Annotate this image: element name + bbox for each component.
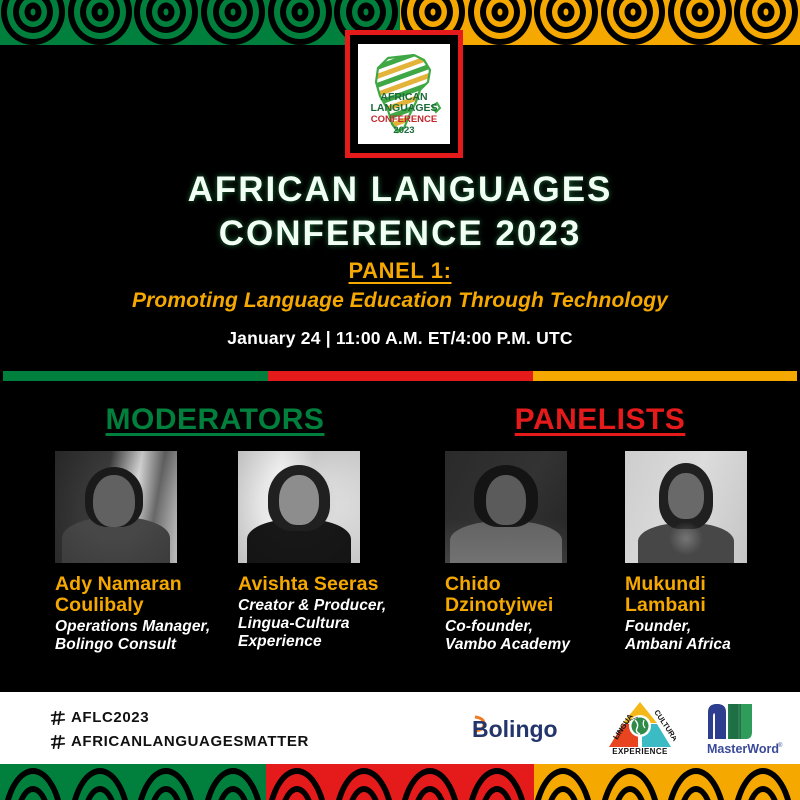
title-line-1: AFRICAN LANGUAGES: [0, 168, 800, 212]
concentric-arch-icon: [534, 764, 597, 800]
lingua-cultura-experience-logo: LINGUA CULTURA EXPERIENCE: [604, 699, 676, 757]
hashtag-africanlanguagesmatter-label: AFRICANLANGUAGESMATTER: [71, 730, 309, 754]
panelist-1-role-line-2: Vambo Academy: [445, 636, 605, 654]
conference-poster: AFRICAN LANGUAGES CONFERENCE 2023 AFRICA…: [0, 0, 800, 800]
logo-line-conference: CONFERENCE: [371, 114, 438, 125]
bottom-pattern-red-segment: [266, 764, 534, 800]
hashtag-aflc2023-label: AFLC2023: [71, 706, 149, 730]
moderator-1-name: Ady Namaran Coulibaly: [55, 574, 215, 616]
panelist-2-role-line-1: Founder,: [625, 618, 785, 636]
hashtag-group: AFLC2023 AFRICANLANGUAGESMATTER: [50, 706, 309, 754]
headshot-mukundi-lambani: [625, 451, 747, 563]
bottom-pattern-green-segment: [0, 764, 266, 800]
title-line-2: CONFERENCE 2023: [0, 212, 800, 256]
panelist-2-name: Mukundi Lambani: [625, 574, 785, 616]
logo-line-languages: LANGUAGES: [370, 102, 437, 114]
divider-red: [268, 371, 533, 381]
concentric-ring-icon: [0, 0, 67, 45]
conference-logo: AFRICAN LANGUAGES CONFERENCE 2023: [358, 44, 450, 144]
concentric-ring-icon: [733, 0, 800, 45]
masterword-label: MasterWord: [707, 742, 779, 756]
panel-label: PANEL 1:: [0, 258, 800, 284]
tricolor-divider: [3, 371, 797, 381]
concentric-ring-icon: [200, 0, 267, 45]
concentric-ring-icon: [266, 0, 333, 45]
conference-logo-badge: AFRICAN LANGUAGES CONFERENCE 2023: [345, 30, 463, 158]
bottom-pattern-band: [0, 764, 800, 800]
bolingo-label: Bolingo: [472, 716, 558, 742]
panelist-card-2: Mukundi Lambani Founder, Ambani Africa: [625, 451, 785, 654]
divider-gold: [533, 371, 797, 381]
logo-line-year: 2023: [393, 125, 414, 136]
headshot-ady-namaran-coulibaly: [55, 451, 177, 563]
poster-title: AFRICAN LANGUAGES CONFERENCE 2023: [0, 168, 800, 256]
concentric-arch-icon: [200, 764, 266, 800]
concentric-arch-icon: [0, 764, 67, 800]
panelist-card-1: Chido Dzinotyiwei Co-founder, Vambo Acad…: [445, 451, 605, 654]
moderator-card-1: Ady Namaran Coulibaly Operations Manager…: [55, 451, 215, 654]
concentric-arch-icon: [266, 764, 331, 800]
concentric-ring-icon: [600, 0, 667, 45]
concentric-arch-icon: [464, 764, 531, 800]
hashtag-icon: [50, 734, 66, 750]
concentric-ring-icon: [467, 0, 534, 45]
concentric-arch-icon: [597, 764, 664, 800]
concentric-ring-icon: [67, 0, 134, 45]
concentric-arch-icon: [730, 764, 797, 800]
bottom-pattern-gold-segment: [534, 764, 800, 800]
panelists-heading: PANELISTS: [500, 403, 700, 437]
top-pattern-green-segment: [0, 0, 400, 45]
bolingo-logo: Bolingo: [468, 708, 580, 748]
divider-green: [3, 371, 268, 381]
panelist-1-name: Chido Dzinotyiwei: [445, 574, 605, 616]
headshot-avishta-seeras: [238, 451, 360, 563]
concentric-ring-icon: [133, 0, 200, 45]
masterword-registered-mark: ®: [778, 742, 783, 749]
panel-datetime: January 24 | 11:00 A.M. ET/4:00 P.M. UTC: [0, 328, 800, 349]
concentric-ring-icon: [533, 0, 600, 45]
masterword-logo: MasterWord ®: [700, 699, 786, 757]
moderator-1-role-line-1: Operations Manager,: [55, 618, 215, 636]
concentric-arch-row: [0, 764, 266, 800]
concentric-arch-icon: [663, 764, 730, 800]
moderator-2-role-line-1: Creator & Producer,: [238, 597, 398, 615]
concentric-arch-icon: [133, 764, 200, 800]
headshot-chido-dzinotyiwei: [445, 451, 567, 563]
moderator-2-name: Avishta Seeras: [238, 574, 398, 595]
hashtag-aflc2023: AFLC2023: [50, 706, 309, 730]
footer-bar: AFLC2023 AFRICANLANGUAGESMATTER: [0, 692, 800, 764]
moderators-heading: MODERATORS: [85, 403, 345, 437]
concentric-arch-row: [534, 764, 800, 800]
hashtag-icon: [50, 710, 66, 726]
moderator-card-2: Avishta Seeras Creator & Producer, Lingu…: [238, 451, 398, 651]
concentric-ring-row: [0, 0, 400, 45]
concentric-arch-row: [266, 764, 534, 800]
panelist-1-role-line-1: Co-founder,: [445, 618, 605, 636]
moderator-1-role-line-2: Bolingo Consult: [55, 636, 215, 654]
concentric-arch-icon: [397, 764, 464, 800]
concentric-arch-icon: [331, 764, 398, 800]
moderator-2-role-line-2: Lingua-Cultura: [238, 615, 398, 633]
sponsor-logos: Bolingo LINGUA CULTURA EXPERIENCE: [468, 697, 786, 759]
hashtag-africanlanguagesmatter: AFRICANLANGUAGESMATTER: [50, 730, 309, 754]
experience-label: EXPERIENCE: [612, 747, 668, 756]
panelist-2-role-line-2: Ambani Africa: [625, 636, 785, 654]
moderator-2-role-line-3: Experience: [238, 633, 398, 651]
concentric-ring-icon: [666, 0, 733, 45]
panel-topic: Promoting Language Education Through Tec…: [0, 289, 800, 313]
concentric-arch-icon: [67, 764, 134, 800]
africa-map-icon: AFRICAN LANGUAGES CONFERENCE 2023: [358, 44, 450, 144]
